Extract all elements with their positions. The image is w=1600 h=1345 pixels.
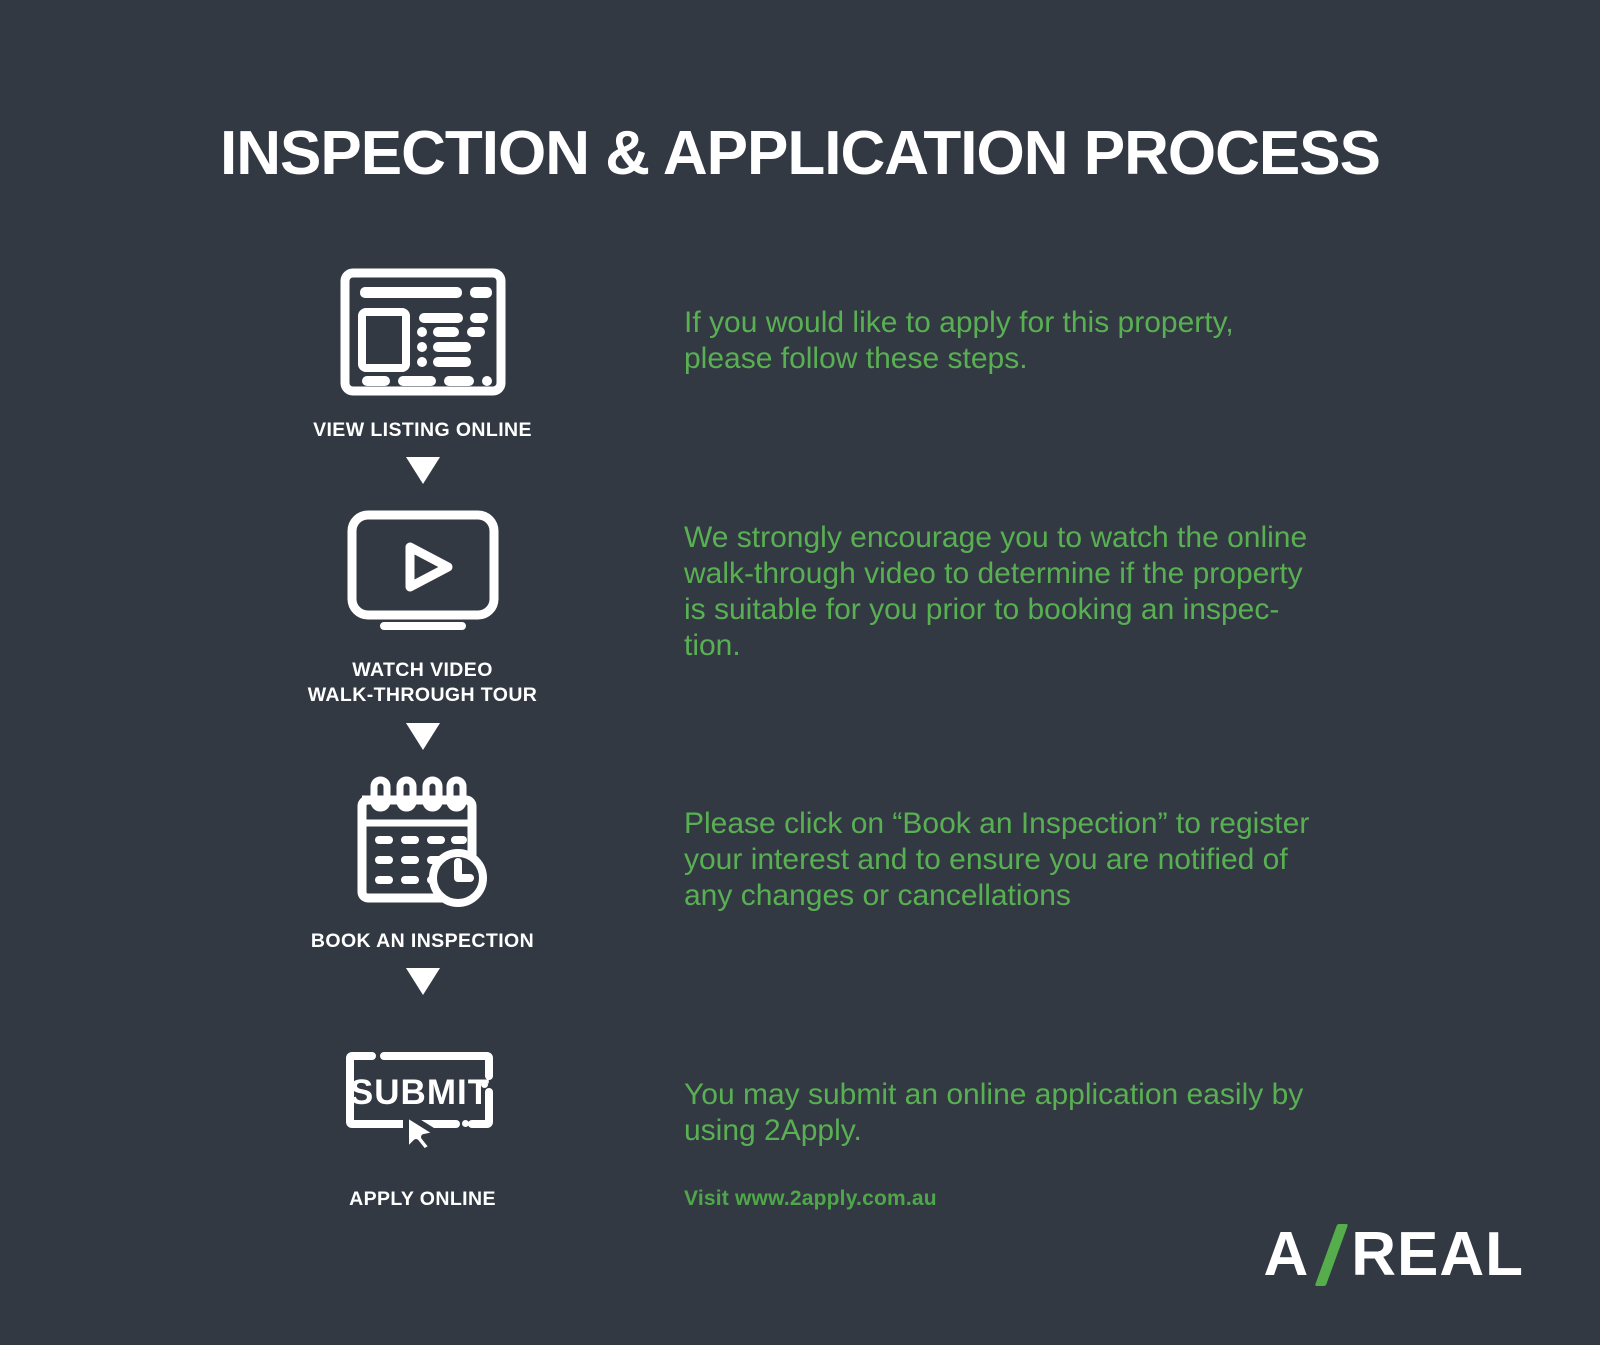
page-title: INSPECTION & APPLICATION PROCESS	[0, 118, 1600, 189]
down-triangle-icon	[406, 723, 440, 750]
step-flow: VIEW LISTING ONLINE WATCH VIDEO WALK-THR…	[230, 262, 615, 1213]
flow-arrow-1	[230, 444, 615, 498]
video-monitor-play-icon	[230, 502, 615, 642]
visit-url-line[interactable]: Visit www.2apply.com.au	[684, 1187, 1444, 1211]
infographic-page: INSPECTION & APPLICATION PROCESS	[0, 0, 1600, 1345]
step-label-view-listing: VIEW LISTING ONLINE	[230, 418, 615, 444]
step-watch-video: WATCH VIDEO WALK-THROUGH TOUR	[230, 502, 615, 709]
step-label-watch-video: WATCH VIDEO WALK-THROUGH TOUR	[230, 658, 615, 709]
copy-watch-video: We strongly encourage you to watch the o…	[684, 520, 1444, 664]
copy-apply-online: You may submit an online application eas…	[684, 1077, 1444, 1149]
copy-view-listing: If you would like to apply for this prop…	[684, 305, 1444, 377]
step-view-listing: VIEW LISTING ONLINE	[230, 262, 615, 444]
step-label-apply-online: APPLY ONLINE	[230, 1187, 615, 1213]
down-triangle-icon	[406, 457, 440, 484]
brand-logo: A REAL	[1263, 1220, 1524, 1290]
listing-window-icon	[230, 262, 615, 402]
logo-letter-a: A	[1263, 1224, 1309, 1286]
copy-book-inspection: Please click on “Book an Inspection” to …	[684, 806, 1444, 914]
flow-arrow-2	[230, 709, 615, 763]
step-book-inspection: BOOK AN INSPECTION	[230, 773, 615, 955]
logo-word-real: REAL	[1351, 1224, 1524, 1286]
calendar-clock-icon	[230, 773, 615, 913]
logo-slash-icon	[1315, 1224, 1349, 1286]
step-apply-online: SUBMIT APPLY ONLINE	[230, 1031, 615, 1213]
submit-button-cursor-icon: SUBMIT	[230, 1031, 615, 1171]
down-triangle-icon	[406, 968, 440, 995]
svg-text:SUBMIT: SUBMIT	[349, 1073, 489, 1112]
step-label-book-inspection: BOOK AN INSPECTION	[230, 929, 615, 955]
flow-arrow-3	[230, 955, 615, 1009]
copy-column: If you would like to apply for this prop…	[684, 262, 1444, 1211]
